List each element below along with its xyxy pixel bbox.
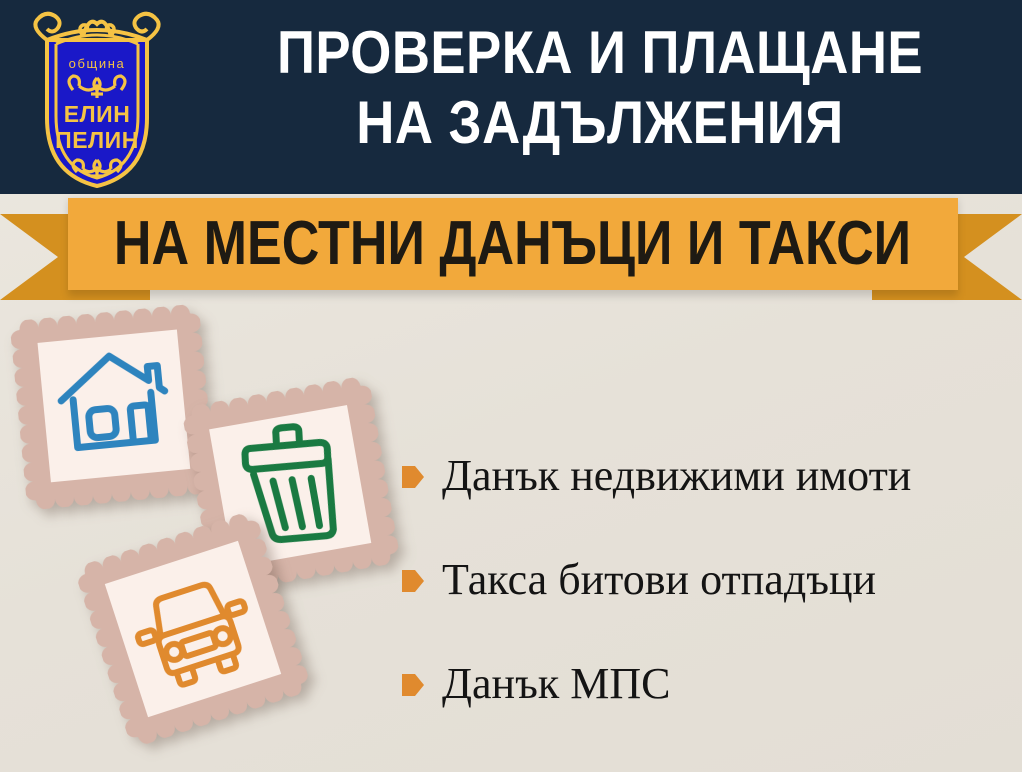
arrow-bullet-icon [402,464,424,490]
arrow-bullet-icon [402,672,424,698]
crest-name-line-2: ПЕЛИН [55,127,139,153]
municipality-crest-logo: община ЕЛИН ПЕЛИН [17,6,177,188]
list-item-label: Данък недвижими имоти [442,452,911,500]
header-bar: община ЕЛИН ПЕЛИН [0,0,1022,194]
ribbon-label: НА МЕСТНИ ДАНЪЦИ И ТАКСИ [114,213,911,275]
crest-name-line-1: ЕЛИН [64,101,131,127]
ribbon-banner: НА МЕСТНИ ДАНЪЦИ И ТАКСИ [68,198,958,290]
list-item: Данък МПС [402,632,1012,736]
list-item: Данък недвижими имоти [402,424,1012,528]
list-item-label: Такса битови отпадъци [442,556,876,604]
crest-top-label: община [69,56,126,71]
poster-canvas: община ЕЛИН ПЕЛИН [0,0,1022,772]
tax-type-list: Данък недвижими имоти Такса битови отпад… [402,424,1012,736]
arrow-bullet-icon [402,568,424,594]
list-item-label: Данък МПС [442,660,670,708]
page-title: ПРОВЕРКА И ПЛАЩАНЕ НА ЗАДЪЛЖЕНИЯ [236,18,965,158]
list-item: Такса битови отпадъци [402,528,1012,632]
